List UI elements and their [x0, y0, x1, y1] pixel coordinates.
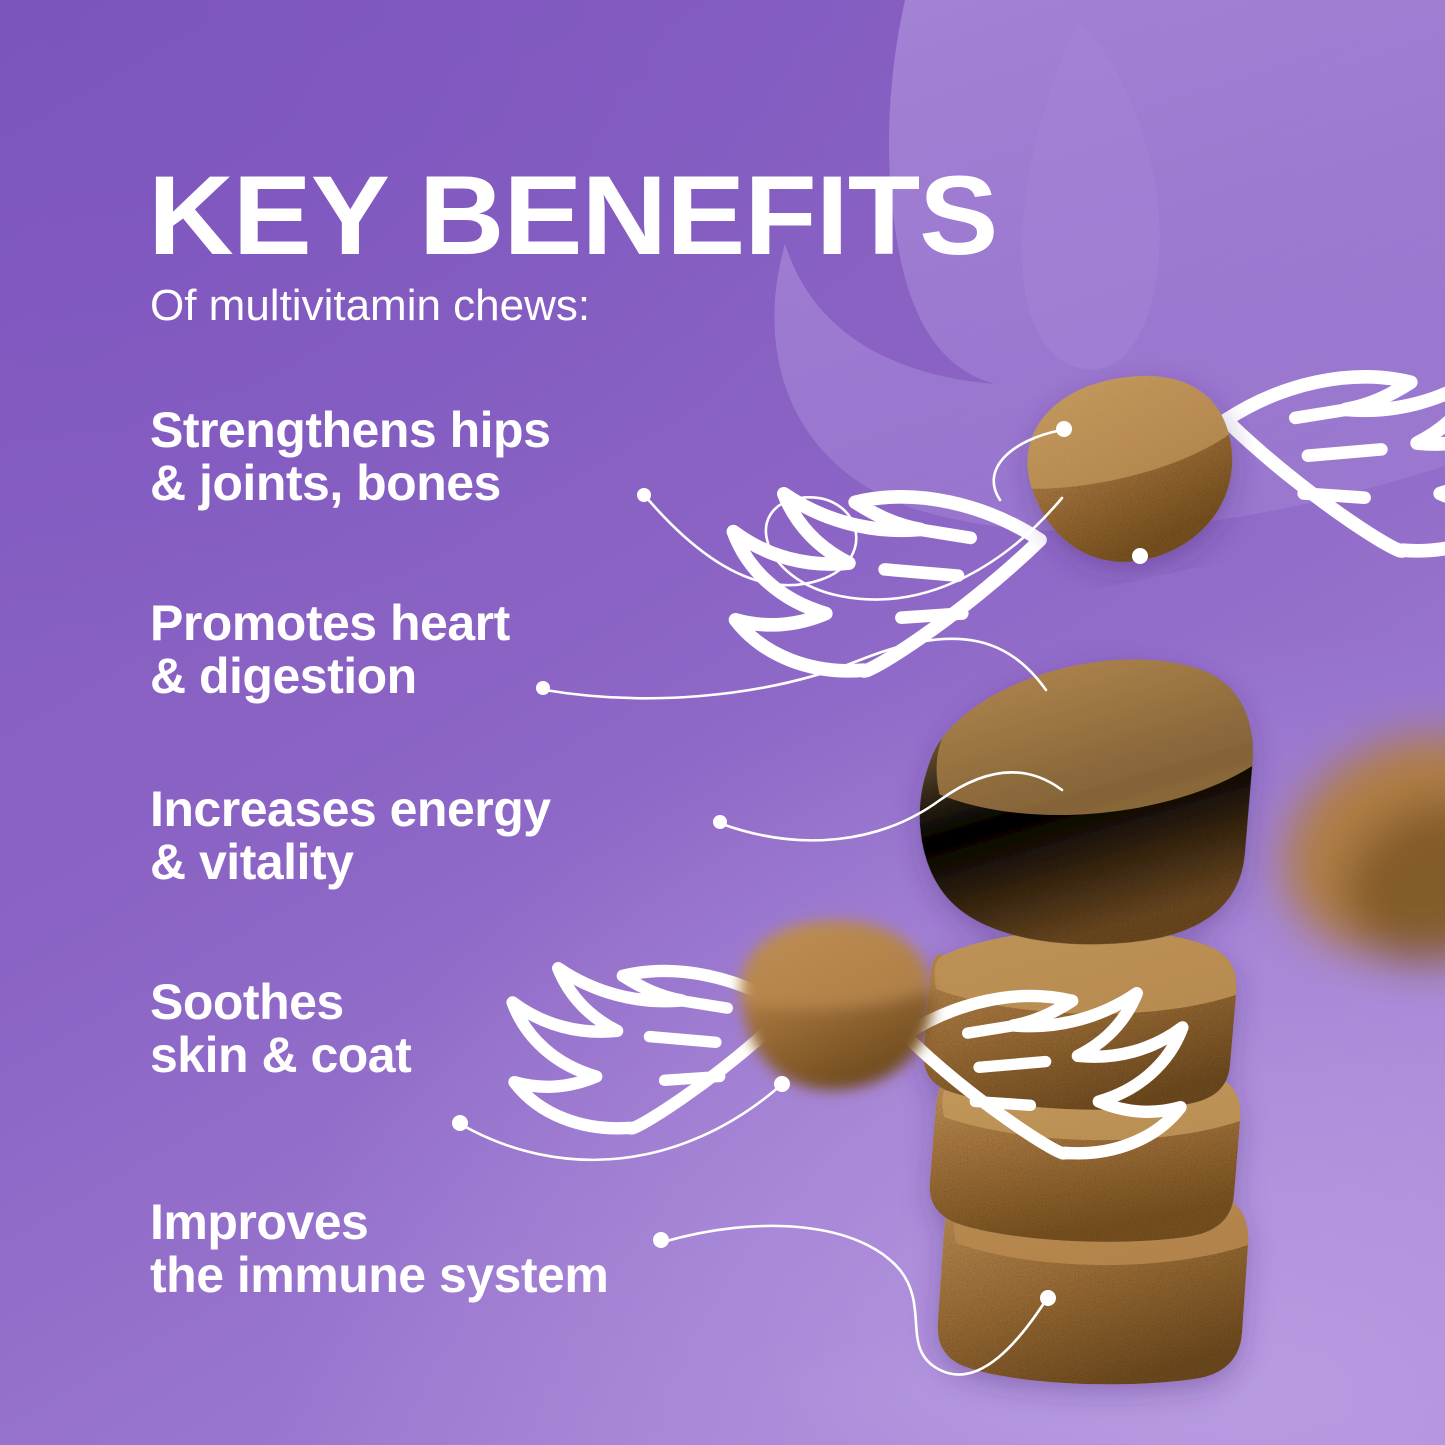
benefit-item-hips-joints-bones: Strengthens hips & joints, bones — [150, 404, 550, 510]
benefit-item-heart-digestion: Promotes heart & digestion — [150, 597, 510, 703]
page-title: KEY BENEFITS — [148, 160, 997, 272]
key-benefits-graphic: KEY BENEFITS Of multivitamin chews: Stre… — [0, 0, 1445, 1445]
page-subtitle: Of multivitamin chews: — [150, 284, 590, 328]
benefit-item-energy-vitality: Increases energy & vitality — [150, 783, 551, 889]
benefit-item-immune-system: Improves the immune system — [150, 1196, 608, 1302]
text-layer: KEY BENEFITS Of multivitamin chews: Stre… — [0, 0, 1445, 1445]
benefit-item-skin-coat: Soothes skin & coat — [150, 976, 411, 1082]
